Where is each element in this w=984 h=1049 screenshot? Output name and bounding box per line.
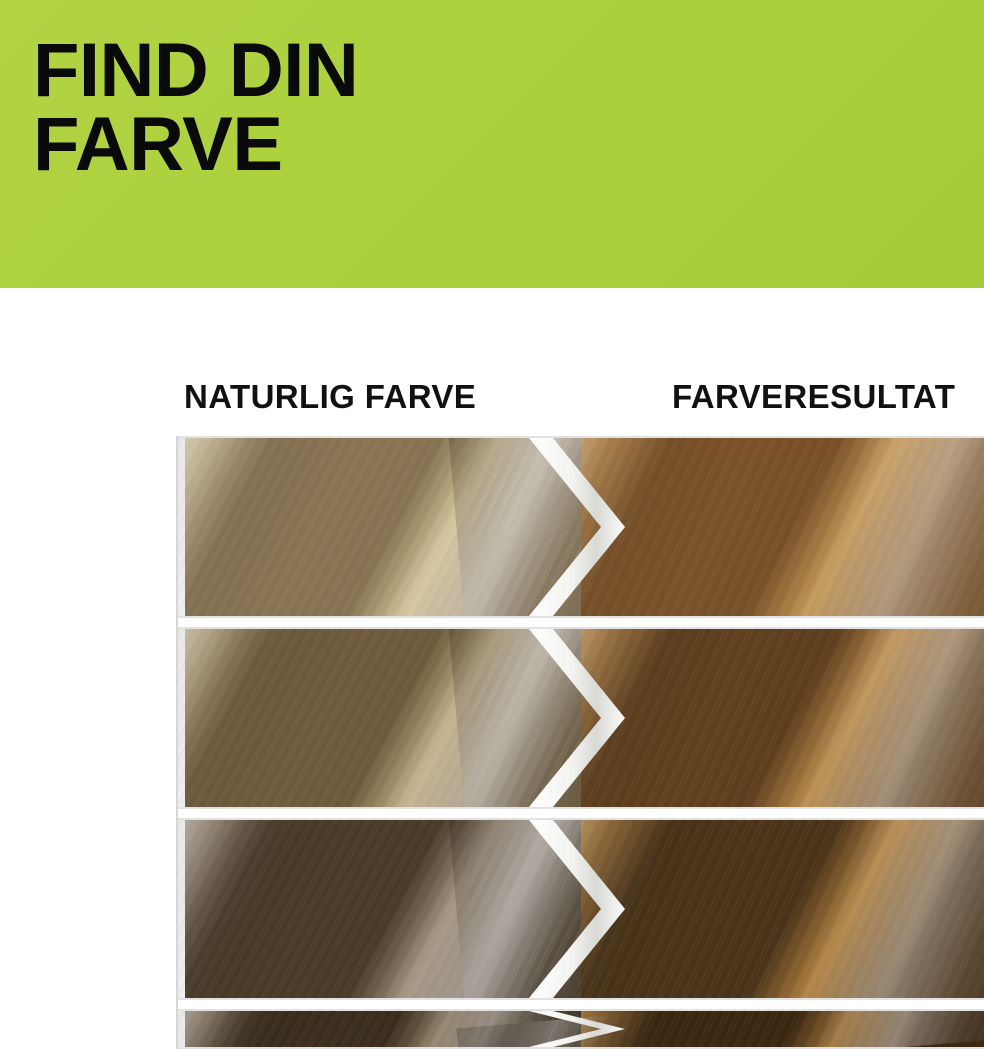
chevron-right-icon — [523, 820, 643, 998]
chart-row[interactable]: Mellembrun — [178, 818, 984, 1000]
chevron-right-icon — [523, 629, 643, 807]
hair-texture — [185, 1011, 581, 1047]
hair-texture — [185, 820, 581, 998]
natural-color-swatch[interactable] — [185, 629, 581, 807]
page-banner: FIND DIN FARVE — [0, 0, 984, 288]
chart-row[interactable]: Mellemblond — [178, 436, 984, 618]
color-chart: MellemblondMørkblond til LysebrunMellemb… — [176, 436, 984, 1049]
column-header-result: FARVERESULTAT — [672, 378, 955, 416]
chart-row[interactable] — [178, 1009, 984, 1049]
page-title: FIND DIN FARVE — [33, 34, 733, 183]
natural-color-swatch[interactable] — [185, 820, 581, 998]
chevron-right-icon — [523, 1011, 643, 1047]
natural-color-swatch[interactable] — [185, 1011, 581, 1047]
column-header-natural: NATURLIG FARVE — [184, 378, 476, 416]
chart-row[interactable]: Mørkblond til Lysebrun — [178, 627, 984, 809]
chevron-right-icon — [523, 438, 643, 616]
hair-texture — [185, 629, 581, 807]
hair-texture — [185, 438, 581, 616]
natural-color-swatch[interactable] — [185, 438, 581, 616]
column-headers: NATURLIG FARVE FARVERESULTAT — [0, 378, 984, 426]
